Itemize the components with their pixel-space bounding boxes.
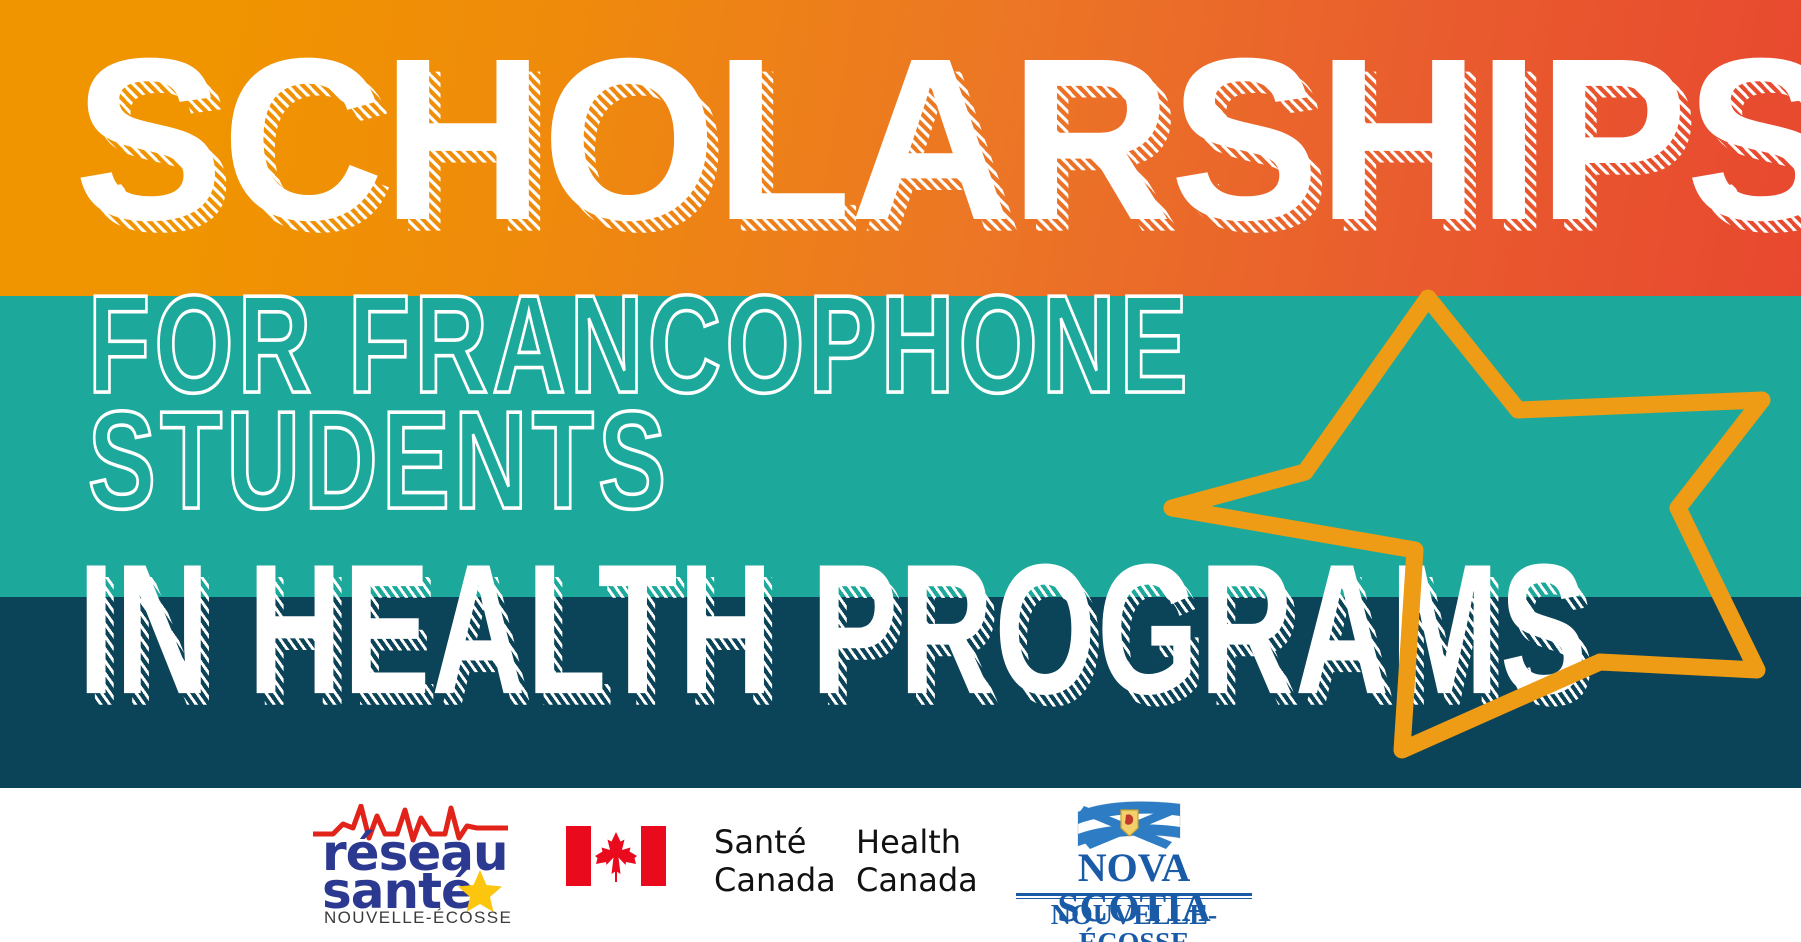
canada-fr-line2: Canada [714, 862, 836, 900]
headline-scholarships: SCHOLARSHIPS SCHOLARSHIPS [74, 25, 1782, 243]
headline-students-text: STUDENTS [88, 392, 670, 531]
nova-scotia-name-fr: NOUVELLE-ÉCOSSE [1014, 902, 1254, 942]
logo-nova-scotia: NOVA SCOTIA NOUVELLE-ÉCOSSE [1014, 798, 1254, 930]
reseau-subtitle: NOUVELLE-ÉCOSSE [324, 908, 512, 928]
star-icon [1130, 250, 1801, 770]
canada-en-line1: Health [856, 824, 978, 862]
nova-scotia-divider [1016, 893, 1252, 896]
headline-scholarships-text: SCHOLARSHIPS [74, 11, 1801, 269]
scholarship-poster: SCHOLARSHIPS SCHOLARSHIPS FOR FRANCOPHON… [0, 0, 1801, 942]
footer-logo-row: réseau santé NOUVELLE-ÉCOSSE Santé Canad… [0, 788, 1801, 942]
canada-flag-icon [566, 826, 666, 886]
canada-en-line2: Canada [856, 862, 978, 900]
nova-scotia-divider-thin [1016, 898, 1252, 899]
headline-for-francophone: FOR FRANCOPHONE [88, 276, 1129, 372]
logo-health-canada: Santé Canada Health Canada [566, 826, 986, 908]
headline-students: STUDENTS [88, 392, 637, 488]
logo-reseau-sante: réseau santé NOUVELLE-ÉCOSSE [308, 804, 513, 928]
canada-fr-line1: Santé [714, 824, 836, 862]
canada-text-english: Health Canada [856, 824, 978, 900]
canada-text-french: Santé Canada [714, 824, 836, 900]
